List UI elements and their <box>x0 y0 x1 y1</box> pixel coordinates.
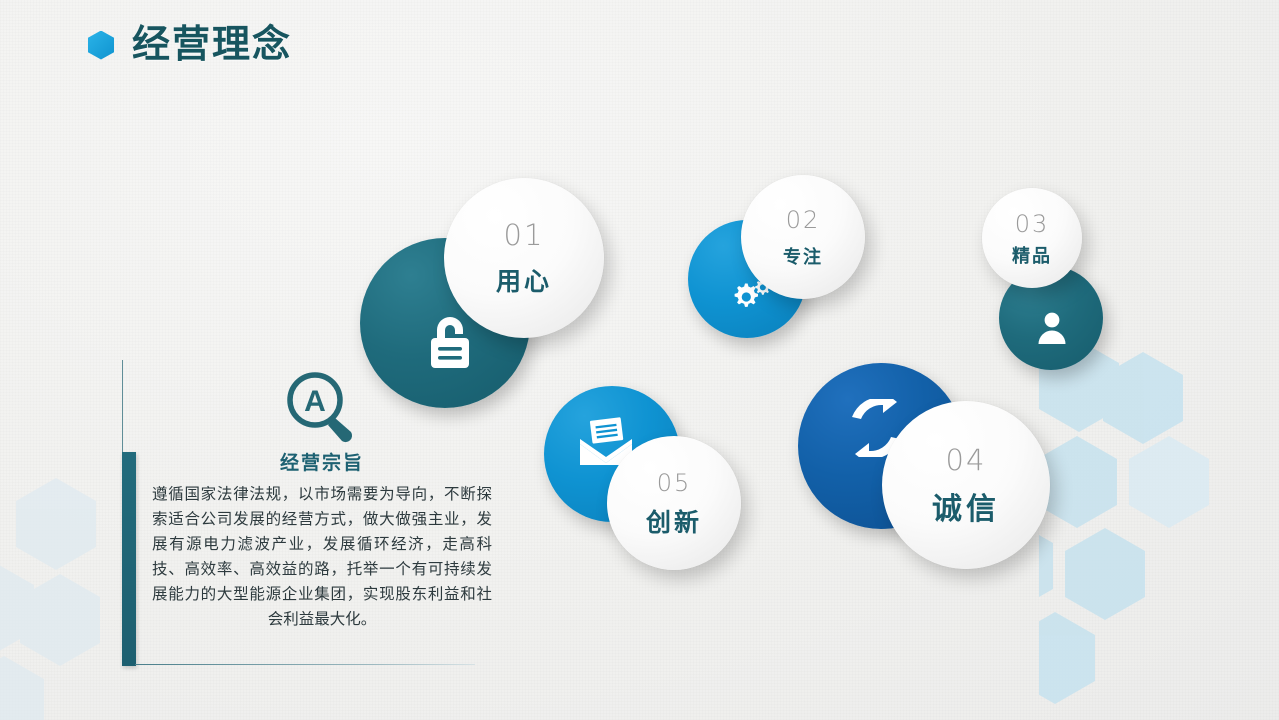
node-02-label: 专注 <box>783 248 823 266</box>
node-02-number: 02 <box>786 208 821 232</box>
node-01-number: 01 <box>504 221 545 250</box>
node-04-white-circle[interactable]: 04 诚信 <box>882 401 1050 569</box>
node-04-label: 诚信 <box>932 495 1000 525</box>
magnifier-a-icon: A <box>152 368 492 446</box>
person-icon <box>1035 310 1069 346</box>
person-icon-svg <box>1035 310 1069 346</box>
node-05-label: 创新 <box>646 511 702 536</box>
slide-header: 经营理念 <box>88 26 292 64</box>
node-04-number: 04 <box>946 446 987 475</box>
slide-canvas: 经营理念 01 用心 <box>0 0 1279 720</box>
hexagon-icon <box>88 31 114 60</box>
lock-icon <box>424 313 476 373</box>
node-05-white-circle[interactable]: 05 创新 <box>607 436 741 570</box>
hex-pattern-right-svg <box>1039 330 1279 720</box>
mission-body: 遵循国家法律法规，以市场需要为导向，不断探索适合公司发展的经营方式，做大做强主业… <box>152 482 492 632</box>
page-title: 经营理念 <box>132 26 292 64</box>
node-01-white-circle[interactable]: 01 用心 <box>444 178 604 338</box>
lock-icon-svg <box>424 313 476 373</box>
panel-thin-line <box>122 360 123 455</box>
node-03-label: 精品 <box>1012 247 1052 265</box>
node-02-white-circle[interactable]: 02 专注 <box>741 175 865 299</box>
node-05-number: 05 <box>657 471 692 495</box>
node-03-white-circle[interactable]: 03 精品 <box>982 188 1082 288</box>
mission-panel-content: A 经营宗旨 遵循国家法律法规，以市场需要为导向，不断探索适合公司发展的经营方式… <box>152 368 492 632</box>
magnifier-a-icon-svg: A <box>281 368 363 446</box>
svg-text:A: A <box>304 385 326 418</box>
node-01-label: 用心 <box>496 270 552 295</box>
node-03-number: 03 <box>1015 212 1050 236</box>
hex-pattern-right <box>1039 330 1279 720</box>
panel-underline <box>135 664 475 665</box>
panel-accent-bar <box>122 452 136 666</box>
mission-heading: 经营宗旨 <box>152 448 492 475</box>
